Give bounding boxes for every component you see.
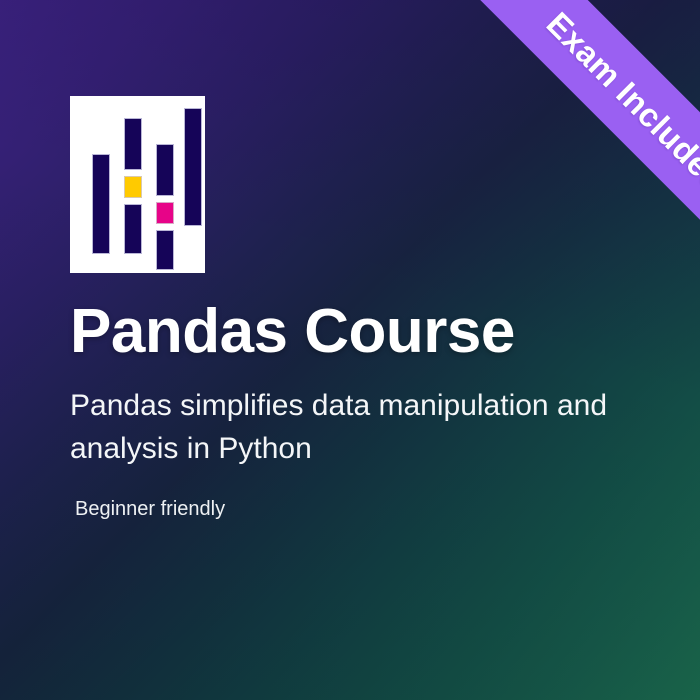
bar-mid-yellow (124, 176, 142, 198)
bar-right-lower (156, 230, 174, 270)
card-content: Pandas Course Pandas simplifies data man… (70, 300, 670, 522)
card-tagline: Beginner friendly (70, 496, 670, 522)
bar-right-magenta (156, 202, 174, 224)
course-card: Exam Included Pandas Course Pandas simpl… (0, 0, 700, 700)
bar-left-tall (92, 154, 110, 254)
bar-mid-lower (124, 204, 142, 254)
pandas-logo (70, 96, 205, 273)
exam-included-ribbon: Exam Included (380, 0, 700, 320)
bar-right-upper (156, 144, 174, 196)
card-subtitle: Pandas simplifies data manipulation and … (70, 385, 670, 470)
bar-far-right-tall (184, 108, 202, 226)
bar-mid-upper (124, 118, 142, 170)
pandas-logo-bars (70, 96, 205, 273)
ribbon-label: Exam Included (539, 5, 700, 199)
ribbon-band: Exam Included (446, 0, 700, 292)
